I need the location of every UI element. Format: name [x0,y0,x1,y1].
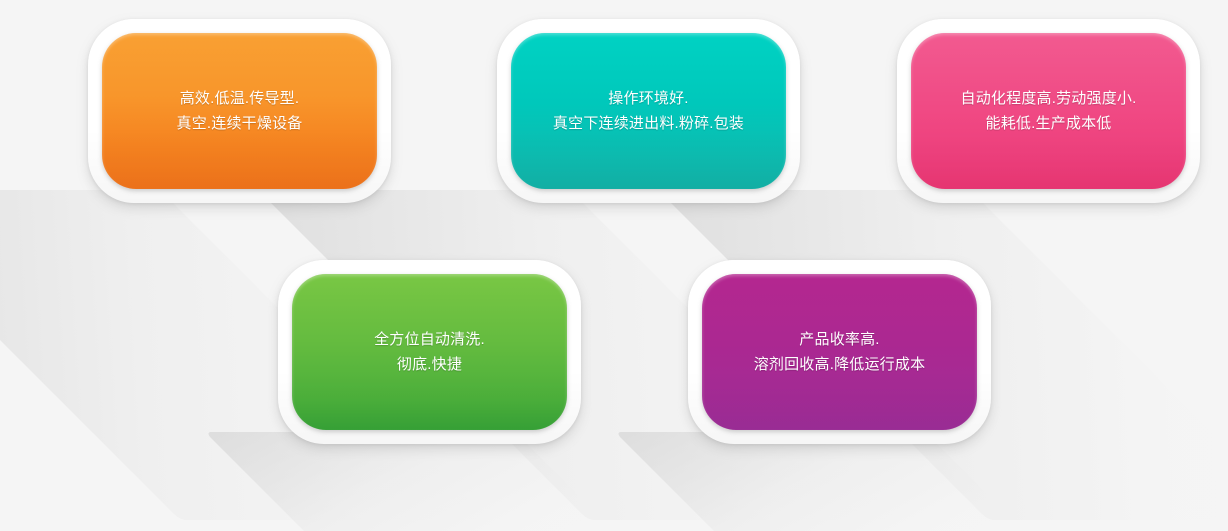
feature-card-line-1: 自动化程度高.劳动强度小. [961,86,1137,111]
feature-card-line-2: 溶剂回收高.降低运行成本 [754,352,926,377]
feature-card-line-2: 彻底.快捷 [374,352,485,377]
shadow-streak-card-5 [615,432,1035,531]
feature-card-line-2: 能耗低.生产成本低 [961,111,1137,136]
feature-card-text: 自动化程度高.劳动强度小. 能耗低.生产成本低 [961,86,1137,136]
feature-card-high-efficiency[interactable]: 高效.低温.传导型. 真空.连续干燥设备 [88,19,391,203]
shadow-streak-card-4 [205,432,625,531]
feature-card-line-1: 操作环境好. [553,86,744,111]
feature-card-automation[interactable]: 自动化程度高.劳动强度小. 能耗低.生产成本低 [897,19,1200,203]
feature-card-text: 全方位自动清洗. 彻底.快捷 [374,327,485,377]
feature-card-panel: 自动化程度高.劳动强度小. 能耗低.生产成本低 [911,33,1186,189]
feature-card-line-1: 高效.低温.传导型. [177,86,303,111]
feature-card-text: 操作环境好. 真空下连续进出料.粉碎.包装 [553,86,744,136]
feature-card-panel: 操作环境好. 真空下连续进出料.粉碎.包装 [511,33,786,189]
feature-card-line-1: 全方位自动清洗. [374,327,485,352]
feature-card-text: 产品收率高. 溶剂回收高.降低运行成本 [754,327,926,377]
infographic-canvas: 高效.低温.传导型. 真空.连续干燥设备 操作环境好. 真空下连续进出料.粉碎.… [0,0,1228,531]
feature-card-text: 高效.低温.传导型. 真空.连续干燥设备 [177,86,303,136]
feature-card-line-2: 真空.连续干燥设备 [177,111,303,136]
feature-card-line-2: 真空下连续进出料.粉碎.包装 [553,111,744,136]
feature-card-panel: 产品收率高. 溶剂回收高.降低运行成本 [702,274,977,430]
feature-card-auto-cleaning[interactable]: 全方位自动清洗. 彻底.快捷 [278,260,581,444]
feature-card-operating-environment[interactable]: 操作环境好. 真空下连续进出料.粉碎.包装 [497,19,800,203]
feature-card-line-1: 产品收率高. [754,327,926,352]
feature-card-panel: 高效.低温.传导型. 真空.连续干燥设备 [102,33,377,189]
feature-card-panel: 全方位自动清洗. 彻底.快捷 [292,274,567,430]
feature-card-product-yield[interactable]: 产品收率高. 溶剂回收高.降低运行成本 [688,260,991,444]
